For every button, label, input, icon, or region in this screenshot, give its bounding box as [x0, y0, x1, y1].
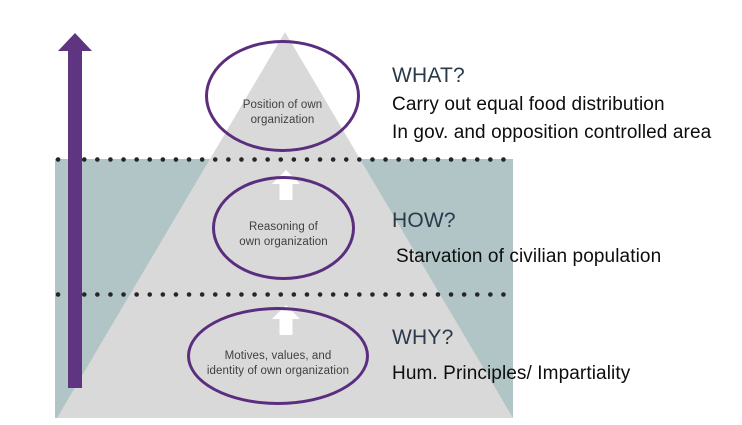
ellipse-label: Position of own organization: [241, 98, 325, 128]
level-block-what: WHAT? Carry out equal food distribution …: [392, 63, 711, 145]
ellipse-label: Reasoning of own organization: [237, 220, 330, 250]
ellipse-position-of-own-organization: Position of own organization: [205, 40, 360, 152]
level-body-line-why-1: Hum. Principles/ Impartiality: [392, 361, 630, 386]
level-heading-what: WHAT?: [392, 63, 711, 89]
ellipse-label: Motives, values, and identity of own org…: [205, 349, 351, 379]
diagram-canvas: Position of own organization Reasoning o…: [0, 0, 742, 425]
level-block-how: HOW? Starvation of civilian population: [392, 208, 661, 269]
ellipse-motives-values-identity: Motives, values, and identity of own org…: [187, 307, 369, 405]
level-body-line-what-1: Carry out equal food distribution: [392, 92, 711, 117]
level-heading-how: HOW?: [392, 208, 661, 234]
level-body-line-how-1: Starvation of civilian population: [396, 244, 661, 269]
level-heading-why: WHY?: [392, 325, 630, 351]
ellipse-reasoning-of-own-organization: Reasoning of own organization: [212, 176, 355, 280]
level-body-line-what-2: In gov. and opposition controlled area: [392, 120, 711, 145]
level-block-why: WHY? Hum. Principles/ Impartiality: [392, 325, 630, 386]
